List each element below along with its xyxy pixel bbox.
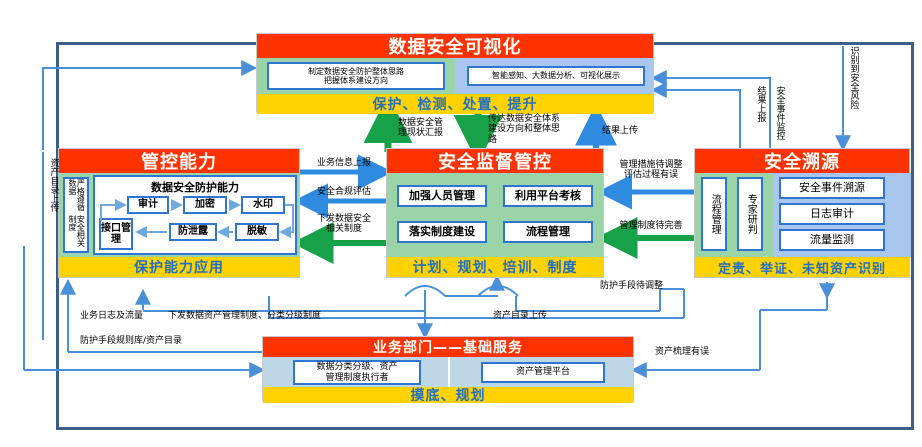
- label-business-logs-and-traffic: 业务日志及流量: [80, 311, 176, 321]
- panel-supervision-body: 加强人员管理 利用平台考核 落实制度建设 流程管理: [387, 173, 603, 257]
- supervision-box-system-construction[interactable]: 落实制度建设: [397, 221, 487, 243]
- panel-supervision: 安全监督管控 加强人员管理 利用平台考核 落实制度建设 流程管理 计划、规划、培…: [386, 148, 604, 278]
- panel-supervision-footer: 计划、规划、培训、制度: [387, 257, 603, 277]
- label-mgmt-measures-need-adjust: 管理措施待调整 评估过程有误: [606, 160, 696, 181]
- supervision-box-personnel[interactable]: 加强人员管理: [397, 185, 487, 207]
- label-protection-rulebase-asset-catalog: 防护手段规则库/资产目录: [80, 336, 260, 346]
- panel-supervision-header: 安全监督管控: [387, 149, 603, 173]
- traceability-box-event-tracing[interactable]: 安全事件溯源: [779, 177, 885, 199]
- panel-visualization-body: 制定数据安全防护整体思路 把握体系建设方向 智能感知、大数据分析、可视化展示: [257, 58, 653, 94]
- panel-traceability-footer: 定责、举证、未知资产识别: [695, 257, 909, 277]
- panel-visualization-footer: 保护、检测、处置、提升: [257, 94, 653, 114]
- label-identified-security-risk-vertical: 识别到安全风险: [848, 46, 857, 128]
- visualization-box-strategy[interactable]: 制定数据安全防护整体思路 把握体系建设方向: [267, 62, 445, 90]
- traceability-box-log-audit[interactable]: 日志审计: [779, 203, 885, 225]
- control-capability-inner-frame: 数据安全防护能力 审计 加密 水印 接口管理 防泄露 脱敏: [93, 175, 297, 255]
- panel-traceability-header: 安全溯源: [695, 149, 909, 173]
- panel-traceability-body: 流程管理 专家研判 安全事件溯源 日志审计 流量监测: [695, 173, 909, 257]
- panel-business-header: 业务部门——基础服务: [263, 337, 633, 357]
- side-note-col1: 严格遵循数据: [68, 179, 85, 215]
- traceability-side-expert-judgement[interactable]: 专家研判: [737, 177, 763, 251]
- panel-business-footer: 摸底、规划: [263, 387, 633, 403]
- panel-control-capability: 管控能力 严格遵循数据安全相关制度 数据安全防护能力 审计 加密 水印 接口管理…: [58, 148, 300, 278]
- visualization-box-analytics[interactable]: 智能感知、大数据分析、可视化展示: [467, 66, 645, 86]
- control-capability-side-note: 严格遵循数据安全相关制度: [63, 177, 89, 253]
- label-result-report-vertical: 结果上报: [755, 86, 764, 148]
- panel-business-body: 数据分类分级、资产 管理制度执行者 资产管理平台: [263, 357, 633, 387]
- label-asset-catalog-upload-vertical: 资产目录上传: [48, 158, 57, 228]
- label-mgmt-system-need-improve: 管理制度待完善: [606, 221, 696, 231]
- panel-control-capability-header: 管控能力: [59, 149, 299, 173]
- panel-visualization: 数据安全可视化 制定数据安全防护整体思路 把握体系建设方向 智能感知、大数据分析…: [256, 33, 654, 113]
- label-result-upload-top: 结果上传: [602, 126, 658, 136]
- supervision-box-platform-assessment[interactable]: 利用平台考核: [503, 185, 593, 207]
- traceability-side-process-management[interactable]: 流程管理: [701, 177, 727, 251]
- business-box-data-classification[interactable]: 数据分类分级、资产 管理制度执行者: [293, 360, 421, 385]
- panel-control-capability-footer: 保护能力应用: [59, 257, 299, 277]
- panel-traceability: 安全溯源 流程管理 专家研判 安全事件溯源 日志审计 流量监测 定责、举证、未知…: [694, 148, 910, 278]
- label-protection-means-need-adjust: 防护手段待调整: [600, 281, 696, 291]
- label-business-info-report: 业务信息上报: [302, 158, 386, 168]
- label-asset-catalog-upload: 资产目录上传: [493, 311, 583, 321]
- label-convey-construction-direction: 传达数据安全体系 建设方向和整体思 路: [488, 114, 586, 145]
- label-issue-asset-mgmt-policies: 下发数据资产管理制度、分类分级制度: [168, 311, 418, 321]
- panel-visualization-header: 数据安全可视化: [257, 34, 653, 58]
- side-note-col2: 安全相关制度: [68, 215, 85, 251]
- label-security-compliance-assessment: 安全合规评估: [302, 187, 386, 197]
- diagram-canvas: 数据安全可视化 制定数据安全防护整体思路 把握体系建设方向 智能感知、大数据分析…: [0, 0, 922, 447]
- panel-control-capability-body: 严格遵循数据安全相关制度 数据安全防护能力 审计 加密 水印 接口管理 防泄露 …: [59, 173, 299, 257]
- label-issue-data-security-policies: 下发数据安全 相关制度: [302, 214, 386, 235]
- capability-cycle-arrows: [95, 177, 299, 257]
- business-box-asset-platform[interactable]: 资产管理平台: [481, 362, 605, 383]
- label-security-event-monitor-vertical: 安全事件监控: [774, 86, 783, 160]
- label-data-security-status-report: 数据安全管 理现状汇报: [398, 118, 468, 139]
- label-asset-inventory-error: 资产梳理有误: [655, 347, 765, 357]
- traceability-box-traffic-monitoring[interactable]: 流量监测: [779, 229, 885, 251]
- panel-business: 业务部门——基础服务 数据分类分级、资产 管理制度执行者 资产管理平台 摸底、规…: [262, 336, 634, 402]
- supervision-box-process-management[interactable]: 流程管理: [503, 221, 593, 243]
